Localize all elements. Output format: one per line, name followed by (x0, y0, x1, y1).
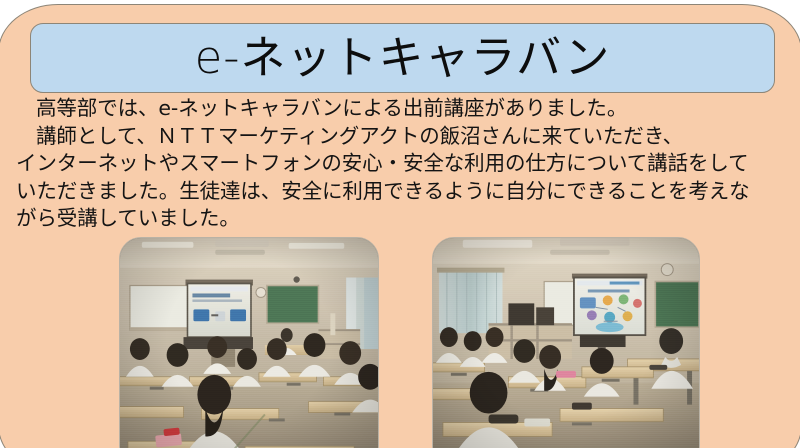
body-paragraph: 高等部では、e-ネットキャラバンによる出前講座がありました。 講師として、ＮＴＴ… (16, 95, 788, 233)
classroom-angled-illustration (433, 238, 699, 448)
body-line-5: がら受講していました。 (16, 205, 788, 233)
body-line-4: いただきました。生徒達は、安全に利用できるように自分にできることを考えな (16, 178, 788, 206)
content-panel: e-ネットキャラバン 高等部では、e-ネットキャラバンによる出前講座がありました… (0, 4, 800, 448)
body-line-1: 高等部では、e-ネットキャラバンによる出前講座がありました。 (16, 95, 788, 123)
title-banner: e-ネットキャラバン (30, 23, 775, 93)
slide-page: e-ネットキャラバン 高等部では、e-ネットキャラバンによる出前講座がありました… (0, 0, 800, 448)
page-title: e-ネットキャラバン (195, 35, 611, 80)
photo-classroom-front-view (119, 237, 379, 448)
classroom-front-illustration (120, 238, 378, 448)
photo-classroom-angled-view (432, 237, 700, 448)
body-line-3: インターネットやスマートフォンの安心・安全な利用の仕方について講話をして (16, 150, 788, 178)
body-line-2: 講師として、ＮＴＴマーケティングアクトの飯沼さんに来ていただき、 (16, 123, 788, 151)
